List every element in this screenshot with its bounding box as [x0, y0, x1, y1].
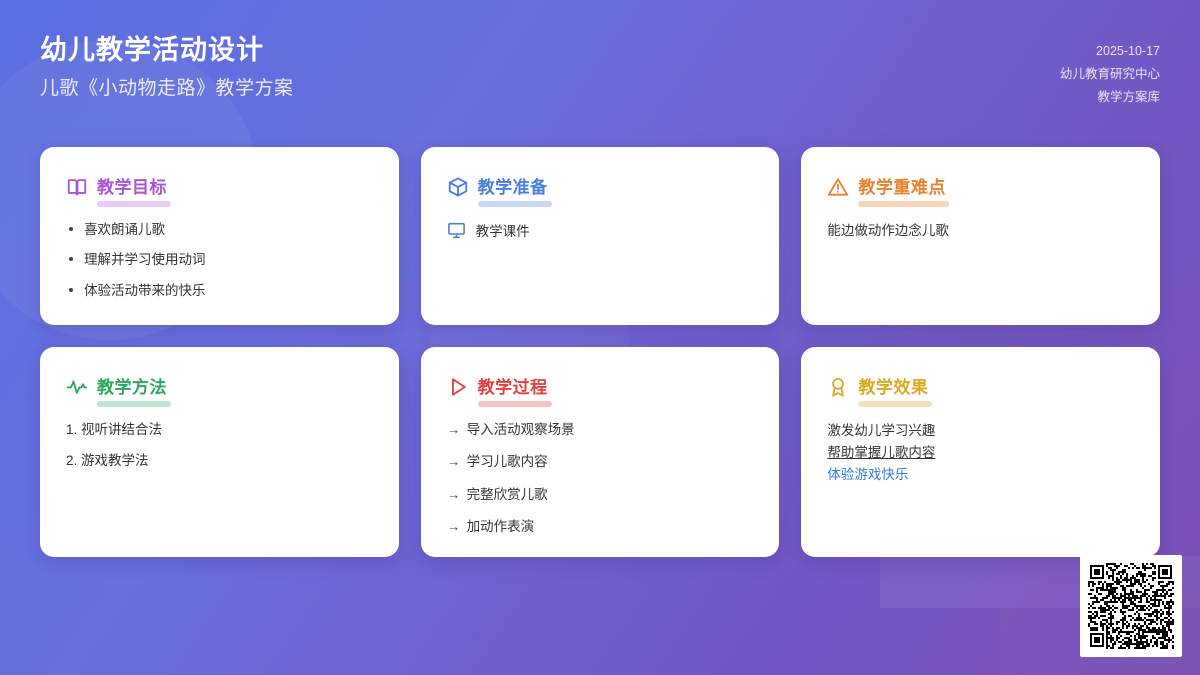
card-teaching-outcomes: 教学效果激发幼儿学习兴趣帮助掌握儿歌内容体验游戏快乐 — [801, 347, 1160, 557]
card-header: 教学目标 — [66, 173, 373, 200]
list-item: 导入活动观察场景 — [447, 420, 754, 440]
card-title: 教学重难点 — [858, 173, 946, 200]
card-title: 教学目标 — [97, 173, 167, 200]
card-title-underline — [97, 201, 171, 207]
list-item-link[interactable]: 体验游戏快乐 — [827, 464, 1134, 486]
card-header: 教学效果 — [827, 373, 1134, 400]
header-organization: 幼儿教育研究中心 — [1060, 63, 1160, 86]
card-body: 导入活动观察场景学习儿歌内容完整欣赏儿歌加动作表演 — [447, 420, 754, 537]
card-body: 教学课件 — [447, 220, 754, 240]
card-list: 视听讲结合法游戏教学法 — [66, 420, 373, 472]
list-item: 理解并学习使用动词 — [66, 250, 373, 270]
card-body: 喜欢朗诵儿歌理解并学习使用动词体验活动带来的快乐 — [66, 220, 373, 301]
card-header: 教学准备 — [447, 173, 754, 200]
warning-triangle-icon — [827, 176, 849, 198]
list-item: 游戏教学法 — [66, 451, 373, 471]
list-item: 帮助掌握儿歌内容 — [827, 442, 1134, 464]
list-item: 视听讲结合法 — [66, 420, 373, 440]
qr-code[interactable] — [1080, 555, 1182, 657]
card-teaching-methods: 教学方法视听讲结合法游戏教学法 — [40, 347, 399, 557]
card-title-underline — [858, 201, 949, 207]
pulse-icon — [66, 376, 88, 398]
card-body: 视听讲结合法游戏教学法 — [66, 420, 373, 472]
card-title: 教学过程 — [478, 373, 548, 400]
card-body: 激发幼儿学习兴趣帮助掌握儿歌内容体验游戏快乐 — [827, 420, 1134, 486]
box-icon — [447, 176, 469, 198]
card-title-underline — [478, 401, 552, 407]
list-item: 喜欢朗诵儿歌 — [66, 220, 373, 240]
page-header: 幼儿教学活动设计 儿歌《小动物走路》教学方案 2025-10-17 幼儿教育研究… — [0, 0, 1200, 128]
card-teaching-preparation: 教学准备教学课件 — [421, 147, 780, 325]
header-repository: 教学方案库 — [1060, 86, 1160, 109]
play-triangle-icon — [447, 376, 469, 398]
card-grid: 教学目标喜欢朗诵儿歌理解并学习使用动词体验活动带来的快乐教学准备教学课件教学重难… — [0, 147, 1200, 557]
list-item: 教学课件 — [447, 220, 754, 240]
header-title-block: 幼儿教学活动设计 儿歌《小动物走路》教学方案 — [40, 34, 294, 101]
list-item-label: 教学课件 — [476, 220, 530, 240]
header-meta-block: 2025-10-17 幼儿教育研究中心 教学方案库 — [1060, 34, 1160, 109]
card-list: 导入活动观察场景学习儿歌内容完整欣赏儿歌加动作表演 — [447, 420, 754, 537]
page-subtitle: 儿歌《小动物走路》教学方案 — [40, 77, 294, 102]
book-icon — [66, 176, 88, 198]
monitor-icon — [447, 221, 466, 240]
card-header: 教学方法 — [66, 373, 373, 400]
card-title-underline — [858, 401, 932, 407]
card-title: 教学准备 — [478, 173, 548, 200]
card-teaching-process: 教学过程导入活动观察场景学习儿歌内容完整欣赏儿歌加动作表演 — [421, 347, 780, 557]
card-teaching-objectives: 教学目标喜欢朗诵儿歌理解并学习使用动词体验活动带来的快乐 — [40, 147, 399, 325]
list-item: 学习儿歌内容 — [447, 452, 754, 472]
list-item: 能边做动作边念儿歌 — [827, 220, 1134, 242]
list-item: 完整欣赏儿歌 — [447, 485, 754, 505]
card-title-underline — [478, 201, 552, 207]
card-list: 喜欢朗诵儿歌理解并学习使用动词体验活动带来的快乐 — [66, 220, 373, 301]
award-icon — [827, 376, 849, 398]
card-title: 教学方法 — [97, 373, 167, 400]
card-header: 教学过程 — [447, 373, 754, 400]
list-item: 体验活动带来的快乐 — [66, 281, 373, 301]
card-key-difficulties: 教学重难点能边做动作边念儿歌 — [801, 147, 1160, 325]
card-title: 教学效果 — [858, 373, 928, 400]
header-date: 2025-10-17 — [1060, 40, 1160, 63]
list-item: 加动作表演 — [447, 517, 754, 537]
page-title: 幼儿教学活动设计 — [40, 34, 294, 68]
card-title-underline — [97, 401, 171, 407]
card-body: 能边做动作边念儿歌 — [827, 220, 1134, 242]
card-header: 教学重难点 — [827, 173, 1134, 200]
list-item: 激发幼儿学习兴趣 — [827, 420, 1134, 442]
